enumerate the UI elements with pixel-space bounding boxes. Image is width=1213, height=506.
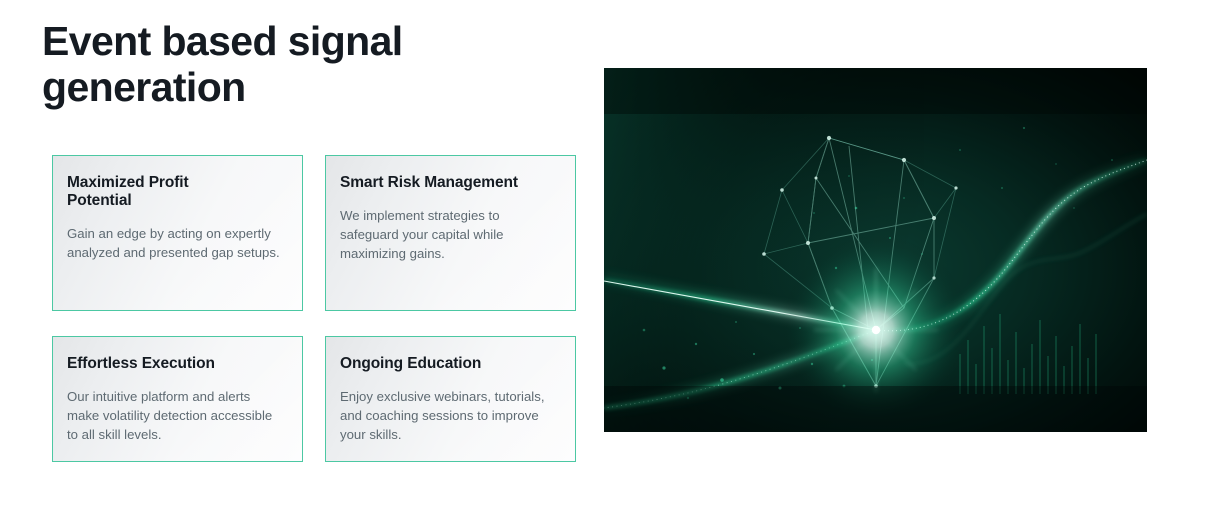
feature-card-title: Smart Risk Management — [340, 174, 555, 192]
feature-card-title: Effortless Execution — [67, 355, 282, 373]
feature-card-maximized-profit-potential[interactable]: Maximized Profit Potential Gain an edge … — [52, 155, 303, 311]
feature-card-body: Enjoy exclusive webinars, tutorials, and… — [340, 387, 555, 444]
page-title: Event based signal generation — [42, 18, 512, 110]
feature-card-body: Gain an edge by acting on expertly analy… — [67, 224, 282, 262]
feature-card-smart-risk-management[interactable]: Smart Risk Management We implement strat… — [325, 155, 576, 311]
feature-card-ongoing-education[interactable]: Ongoing Education Enjoy exclusive webina… — [325, 336, 576, 462]
feature-card-title: Maximized Profit Potential — [67, 174, 227, 210]
feature-card-body: Our intuitive platform and alerts make v… — [67, 387, 282, 444]
feature-card-grid: Maximized Profit Potential Gain an edge … — [52, 155, 576, 462]
feature-card-effortless-execution[interactable]: Effortless Execution Our intuitive platf… — [52, 336, 303, 462]
shield-wireframe-light-burst-icon — [604, 68, 1147, 432]
feature-card-body: We implement strategies to safeguard you… — [340, 206, 555, 263]
feature-card-title: Ongoing Education — [340, 355, 555, 373]
intro-column: Event based signal generation — [42, 18, 582, 110]
hero-image — [604, 68, 1147, 432]
